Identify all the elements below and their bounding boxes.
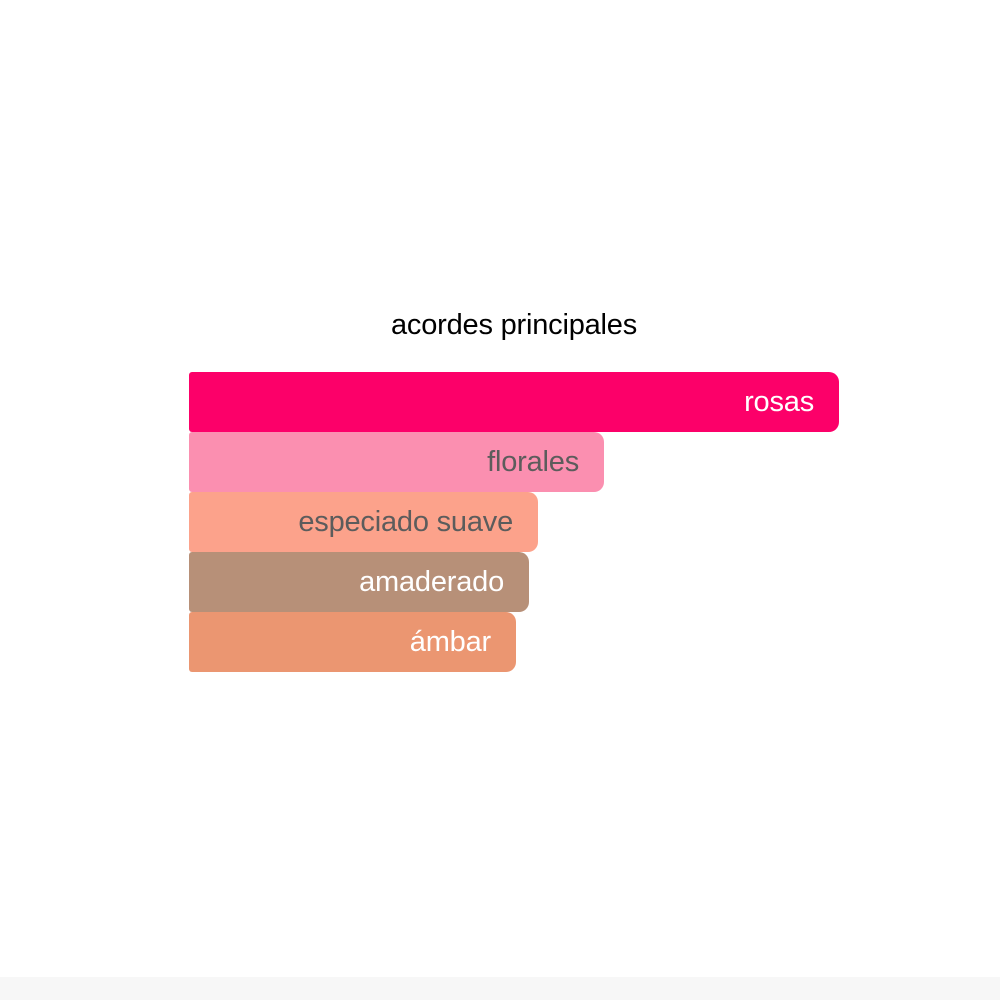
bar-label-florales: florales xyxy=(189,432,604,492)
bar-row: ámbar xyxy=(189,612,889,672)
bar-row: rosas xyxy=(189,372,889,432)
bar-label-especiado-suave: especiado suave xyxy=(189,492,538,552)
bar-row: florales xyxy=(189,432,889,492)
chart-canvas: acordes principales rosas florales espec… xyxy=(0,0,1000,1000)
bar-label-amaderado: amaderado xyxy=(189,552,529,612)
bar-label-rosas: rosas xyxy=(189,372,839,432)
bar-list: rosas florales especiado suave amaderado… xyxy=(189,372,889,672)
chart-title: acordes principales xyxy=(189,307,839,343)
bar-label-ambar: ámbar xyxy=(189,612,516,672)
main-accords-chart: acordes principales rosas florales espec… xyxy=(0,0,1000,1000)
bar-row: especiado suave xyxy=(189,492,889,552)
bar-row: amaderado xyxy=(189,552,889,612)
page-footer-band xyxy=(0,977,1000,1000)
